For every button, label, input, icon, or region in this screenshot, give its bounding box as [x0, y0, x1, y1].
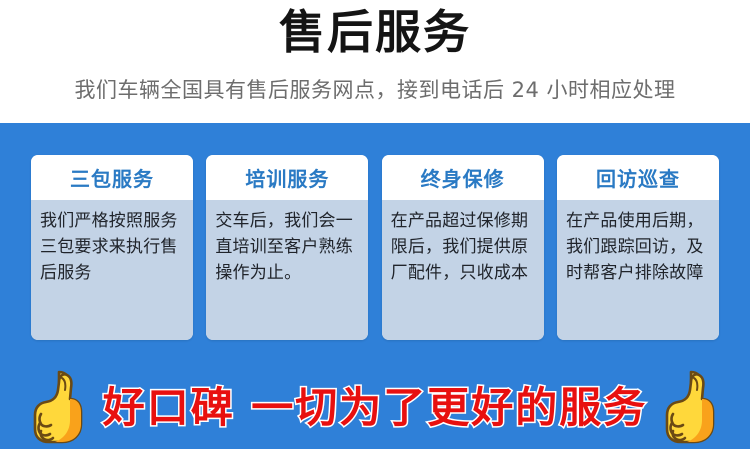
- service-card-4-text: 在产品使用后期，我们跟踪回访，及时帮客户排除故障: [566, 208, 710, 286]
- service-card-2-text: 交车后，我们会一直培训至客户熟练操作为止。: [215, 208, 359, 286]
- service-card-4-header: 回访巡查: [557, 155, 719, 200]
- header-section: 售后服务 我们车辆全国具有售后服务网点，接到电话后 24 小时相应处理: [0, 0, 750, 123]
- blue-content-panel: 三包服务 我们严格按照服务三包要求来执行售后服务 培训服务 交车后，我们会一直培…: [0, 123, 750, 449]
- page-subtitle: 我们车辆全国具有售后服务网点，接到电话后 24 小时相应处理: [0, 76, 750, 104]
- slogan-banner: 好口碑 一切为了更好的服务: [0, 364, 750, 449]
- service-card-3[interactable]: 终身保修 在产品超过保修期限后，我们提供原厂配件，只收成本: [382, 155, 544, 340]
- page-root: 售后服务 我们车辆全国具有售后服务网点，接到电话后 24 小时相应处理 三包服务…: [0, 0, 750, 449]
- thumbs-up-icon-left: [29, 368, 89, 446]
- service-card-1-body: 我们严格按照服务三包要求来执行售后服务: [31, 200, 193, 340]
- slogan-text: 好口碑 一切为了更好的服务: [103, 374, 648, 439]
- service-card-list: 三包服务 我们严格按照服务三包要求来执行售后服务 培训服务 交车后，我们会一直培…: [31, 155, 719, 340]
- service-card-3-header: 终身保修: [382, 155, 544, 200]
- thumbs-up-icon-right: [661, 368, 721, 446]
- service-card-4[interactable]: 回访巡查 在产品使用后期，我们跟踪回访，及时帮客户排除故障: [557, 155, 719, 340]
- service-card-2[interactable]: 培训服务 交车后，我们会一直培训至客户熟练操作为止。: [206, 155, 368, 340]
- service-card-2-title: 培训服务: [245, 163, 329, 192]
- service-card-3-text: 在产品超过保修期限后，我们提供原厂配件，只收成本: [391, 208, 535, 286]
- service-card-1-header: 三包服务: [31, 155, 193, 200]
- service-card-1-title: 三包服务: [70, 163, 154, 192]
- service-card-4-body: 在产品使用后期，我们跟踪回访，及时帮客户排除故障: [557, 200, 719, 340]
- service-card-4-title: 回访巡查: [596, 163, 680, 192]
- service-card-2-header: 培训服务: [206, 155, 368, 200]
- service-card-3-title: 终身保修: [421, 163, 505, 192]
- service-card-2-body: 交车后，我们会一直培训至客户熟练操作为止。: [206, 200, 368, 340]
- page-title: 售后服务: [0, 6, 750, 58]
- service-card-1[interactable]: 三包服务 我们严格按照服务三包要求来执行售后服务: [31, 155, 193, 340]
- service-card-3-body: 在产品超过保修期限后，我们提供原厂配件，只收成本: [382, 200, 544, 340]
- service-card-1-text: 我们严格按照服务三包要求来执行售后服务: [40, 208, 184, 286]
